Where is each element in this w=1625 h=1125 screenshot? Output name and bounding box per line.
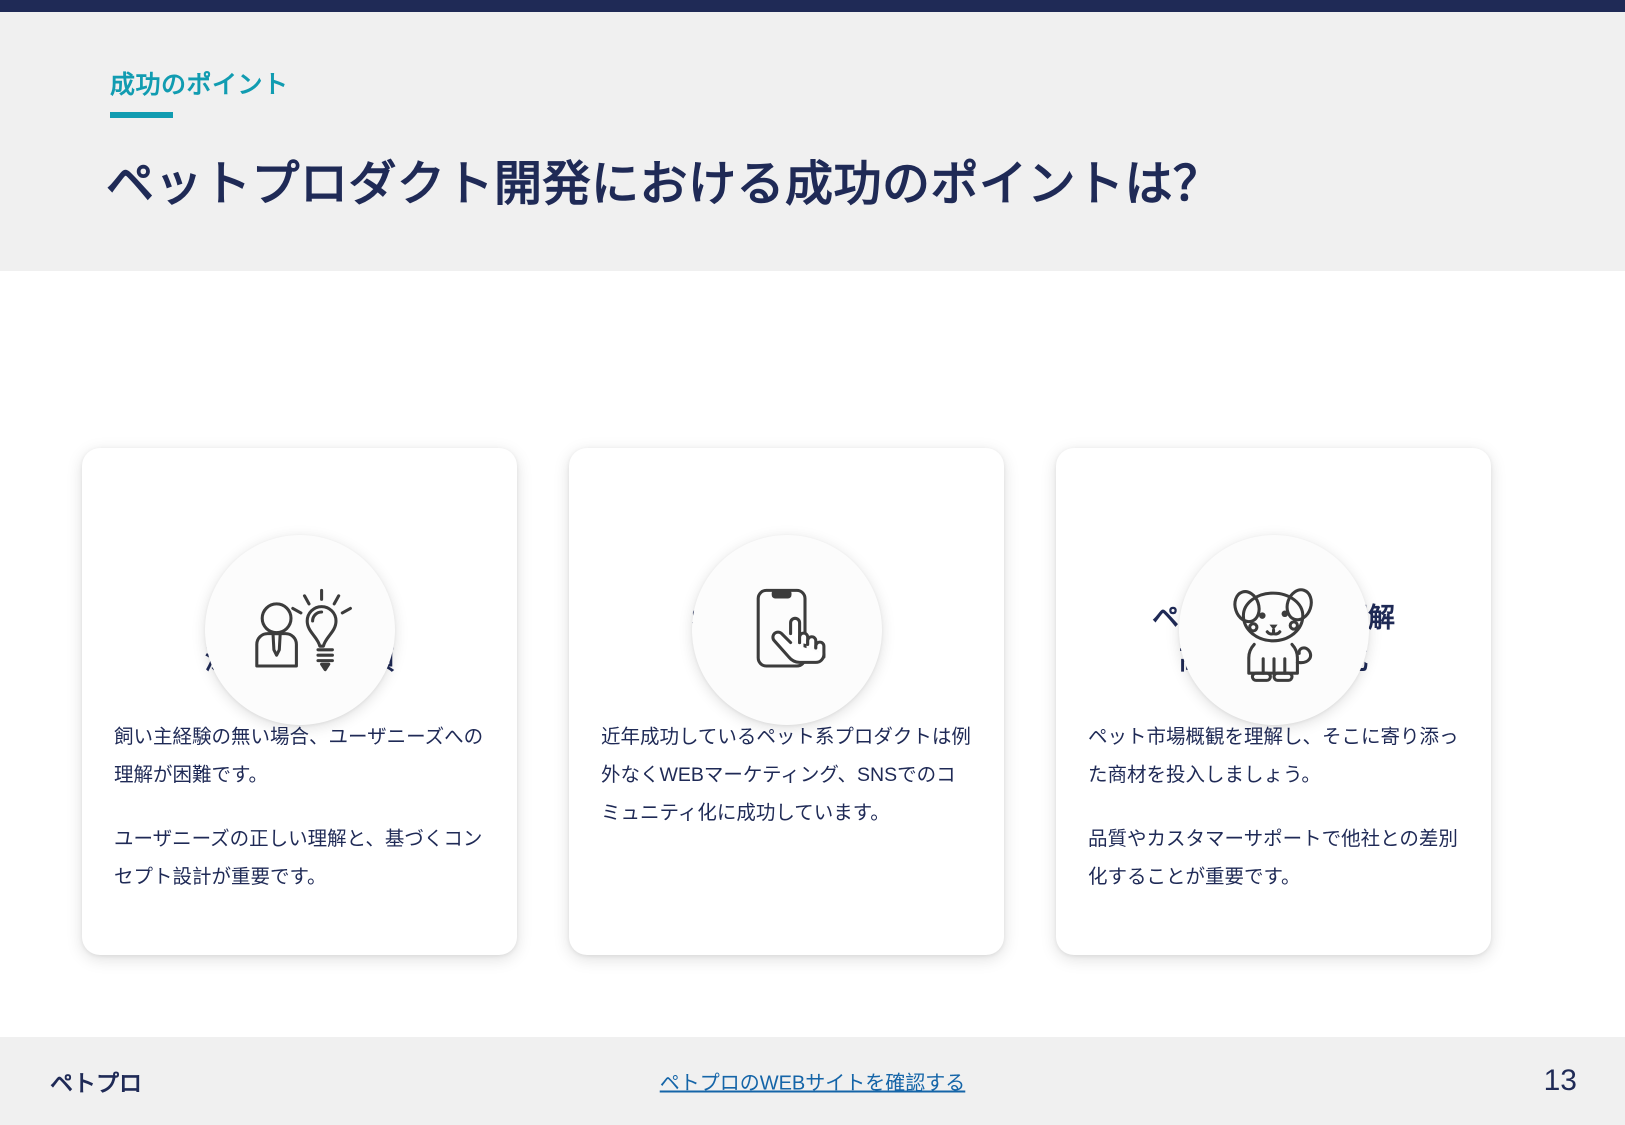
top-accent-bar xyxy=(0,0,1625,12)
page-number: 13 xyxy=(1544,1064,1577,1098)
dog-icon xyxy=(1179,535,1369,725)
person-lightbulb-icon xyxy=(205,535,395,725)
card-paragraph: 近年成功しているペット系プロダクトは例外なくWEBマーケティング、SNSでのコミ… xyxy=(601,718,972,832)
card-paragraph: 飼い主経験の無い場合、ユーザニーズへの理解が困難です。 xyxy=(114,718,485,794)
page-title: ペットプロダクト開発における成功のポイントは？ xyxy=(106,155,1222,215)
footer-website-link[interactable]: ペトプロのWEBサイトを確認する xyxy=(660,1067,966,1096)
footer-brand: ペトプロ xyxy=(50,1064,142,1098)
eyebrow-underline xyxy=(110,112,173,118)
smartphone-tap-icon xyxy=(692,535,882,725)
card-body: 飼い主経験の無い場合、ユーザニーズへの理解が困難です。 ユーザニーズの正しい理解… xyxy=(114,718,485,896)
card-body: ペット市場概観を理解し、そこに寄り添った商材を投入しましょう。 品質やカスタマー… xyxy=(1088,718,1459,896)
eyebrow-label: 成功のポイント xyxy=(110,72,289,100)
card-paragraph: 品質やカスタマーサポートで他社との差別化することが重要です。 xyxy=(1088,820,1459,896)
card-paragraph: ペット市場概観を理解し、そこに寄り添った商材を投入しましょう。 xyxy=(1088,718,1459,794)
footer: ペトプロ ペトプロのWEBサイトを確認する 13 xyxy=(0,1037,1625,1125)
card-body: 近年成功しているペット系プロダクトは例外なくWEBマーケティング、SNSでのコミ… xyxy=(601,718,972,832)
card-user-needs[interactable]: ユーザニーズ 深い洞察が必須 飼い主経験の無い場合、ユーザニーズへの理解が困難で… xyxy=(82,448,517,955)
card-sns-marketing[interactable]: SNSを活用した マーケティング 近年成功しているペット系プロダクトは例外なくW… xyxy=(569,448,1004,955)
header-band: 成功のポイント ペットプロダクト開発における成功のポイントは？ xyxy=(0,12,1625,271)
card-paragraph: ユーザニーズの正しい理解と、基づくコンセプト設計が重要です。 xyxy=(114,820,485,896)
card-pet-market[interactable]: ペット市場への理解 高齢化＆家族化 ペット市場概観を理解し、そこに寄り添った商材… xyxy=(1056,448,1491,955)
cards-region: ユーザニーズ 深い洞察が必須 飼い主経験の無い場合、ユーザニーズへの理解が困難で… xyxy=(0,271,1625,1000)
eyebrow-group: 成功のポイント xyxy=(110,72,289,118)
